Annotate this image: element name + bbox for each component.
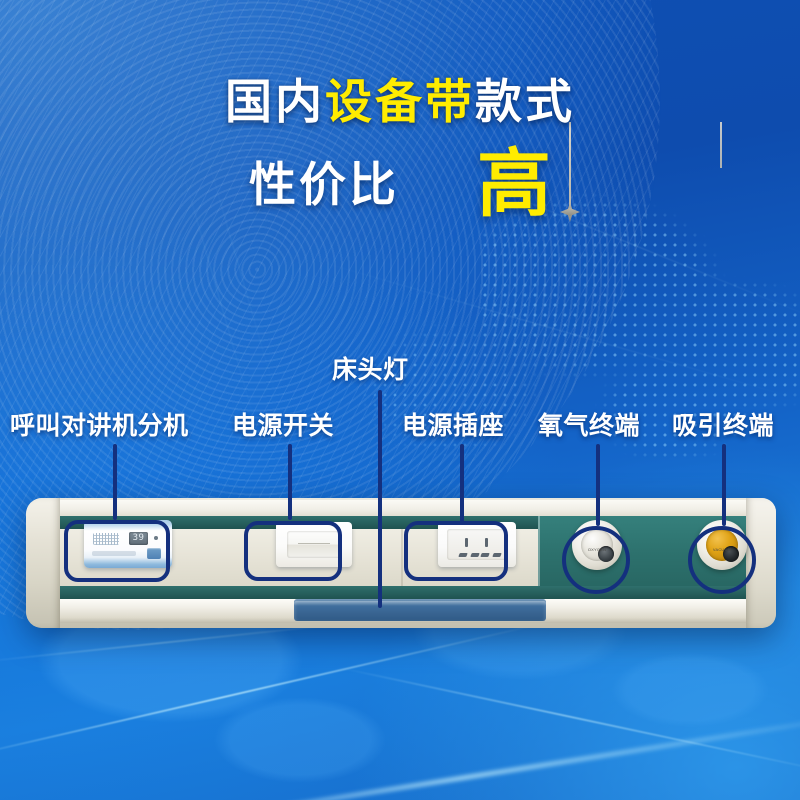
socket-pin-icon <box>492 553 501 557</box>
leader-line-oxygen <box>596 444 600 526</box>
suction-terminal[interactable]: VACUUM <box>697 520 747 570</box>
switch-plate <box>276 522 352 567</box>
headline-line1-highlight: 设备带 <box>325 75 475 128</box>
terminal-outer-ring: OXYGEN <box>572 520 622 570</box>
panel-end-cap-left <box>26 498 60 628</box>
leader-line-bed-lamp <box>378 390 382 608</box>
callout-power-socket: 电源插座 <box>402 414 504 439</box>
callout-suction-terminal: 吸引终端 <box>672 414 774 439</box>
headline-line2-highlight: 高 <box>477 142 551 225</box>
leader-line-power-switch <box>288 444 292 520</box>
headline-line1-part-a: 国内 <box>225 75 325 128</box>
socket-inner-face <box>447 529 507 560</box>
socket-pin-icon <box>458 553 467 557</box>
leader-line-intercom <box>113 444 117 520</box>
callout-label: 电源插座 <box>402 414 504 439</box>
panel-end-cap-right <box>746 498 776 628</box>
socket-pin-icon <box>485 538 488 547</box>
callout-power-switch: 电源开关 <box>232 414 334 439</box>
socket-pin-icon <box>470 553 479 557</box>
oxygen-terminal[interactable]: OXYGEN <box>572 520 622 570</box>
intercom-display: 39 <box>129 532 148 545</box>
intercom-body: 39 <box>84 520 172 568</box>
intercom-label-strip <box>92 551 136 556</box>
speaker-grille-icon <box>93 533 119 545</box>
panel-seam <box>401 529 403 586</box>
terminal-outer-ring: VACUUM <box>697 520 747 570</box>
dot-matrix-secondary-icon <box>330 300 570 500</box>
status-led-icon <box>154 536 158 540</box>
callout-label: 呼叫对讲机分机 <box>10 414 189 439</box>
power-switch[interactable] <box>276 522 352 567</box>
callout-label: 电源开关 <box>232 414 334 439</box>
socket-pin-icon <box>480 553 489 557</box>
terminal-marking: VACUUM <box>706 547 738 552</box>
light-streak-icon <box>0 620 552 761</box>
callout-oxygen-terminal: 氧气终端 <box>538 414 640 439</box>
headline-line-1: 国内设备带款式 <box>0 78 800 125</box>
light-streak-icon <box>124 711 800 800</box>
callout-bed-head-lamp: 床头灯 <box>332 358 409 383</box>
terminal-inner-ring: OXYGEN <box>581 529 613 561</box>
callout-label: 氧气终端 <box>538 414 640 439</box>
headline-block: 国内设备带款式 性价比高 <box>0 78 800 221</box>
panel-rail-blue-section <box>294 599 546 621</box>
headline-line1-part-b: 款式 <box>475 75 575 128</box>
callout-nurse-call-intercom-extension: 呼叫对讲机分机 <box>10 414 189 439</box>
callout-label: 吸引终端 <box>672 414 774 439</box>
terminal-marking: OXYGEN <box>581 547 613 552</box>
callout-label: 床头灯 <box>332 358 409 383</box>
intercom-call-button[interactable] <box>147 548 161 559</box>
nurse-call-intercom-extension[interactable]: 39 <box>84 520 172 568</box>
switch-rocker[interactable] <box>287 531 341 558</box>
product-banner: 国内设备带款式 性价比高 呼叫对讲机分机 电源开关 床头灯 电源插座 氧气终端 … <box>0 0 800 800</box>
light-streak-icon <box>335 666 800 776</box>
leader-line-suction <box>722 444 726 526</box>
headline-line2-text: 性价比 <box>249 158 399 211</box>
medical-bed-head-unit: 39 <box>26 498 776 628</box>
socket-plate <box>438 522 516 567</box>
headline-line-2: 性价比高 <box>0 147 800 221</box>
panel-teal-stripe-bottom <box>46 586 758 599</box>
leader-line-power-socket <box>460 444 464 522</box>
socket-pin-icon <box>465 538 468 547</box>
power-socket[interactable] <box>438 522 516 567</box>
panel-top-lip <box>46 500 758 516</box>
terminal-inner-ring: VACUUM <box>706 529 738 561</box>
